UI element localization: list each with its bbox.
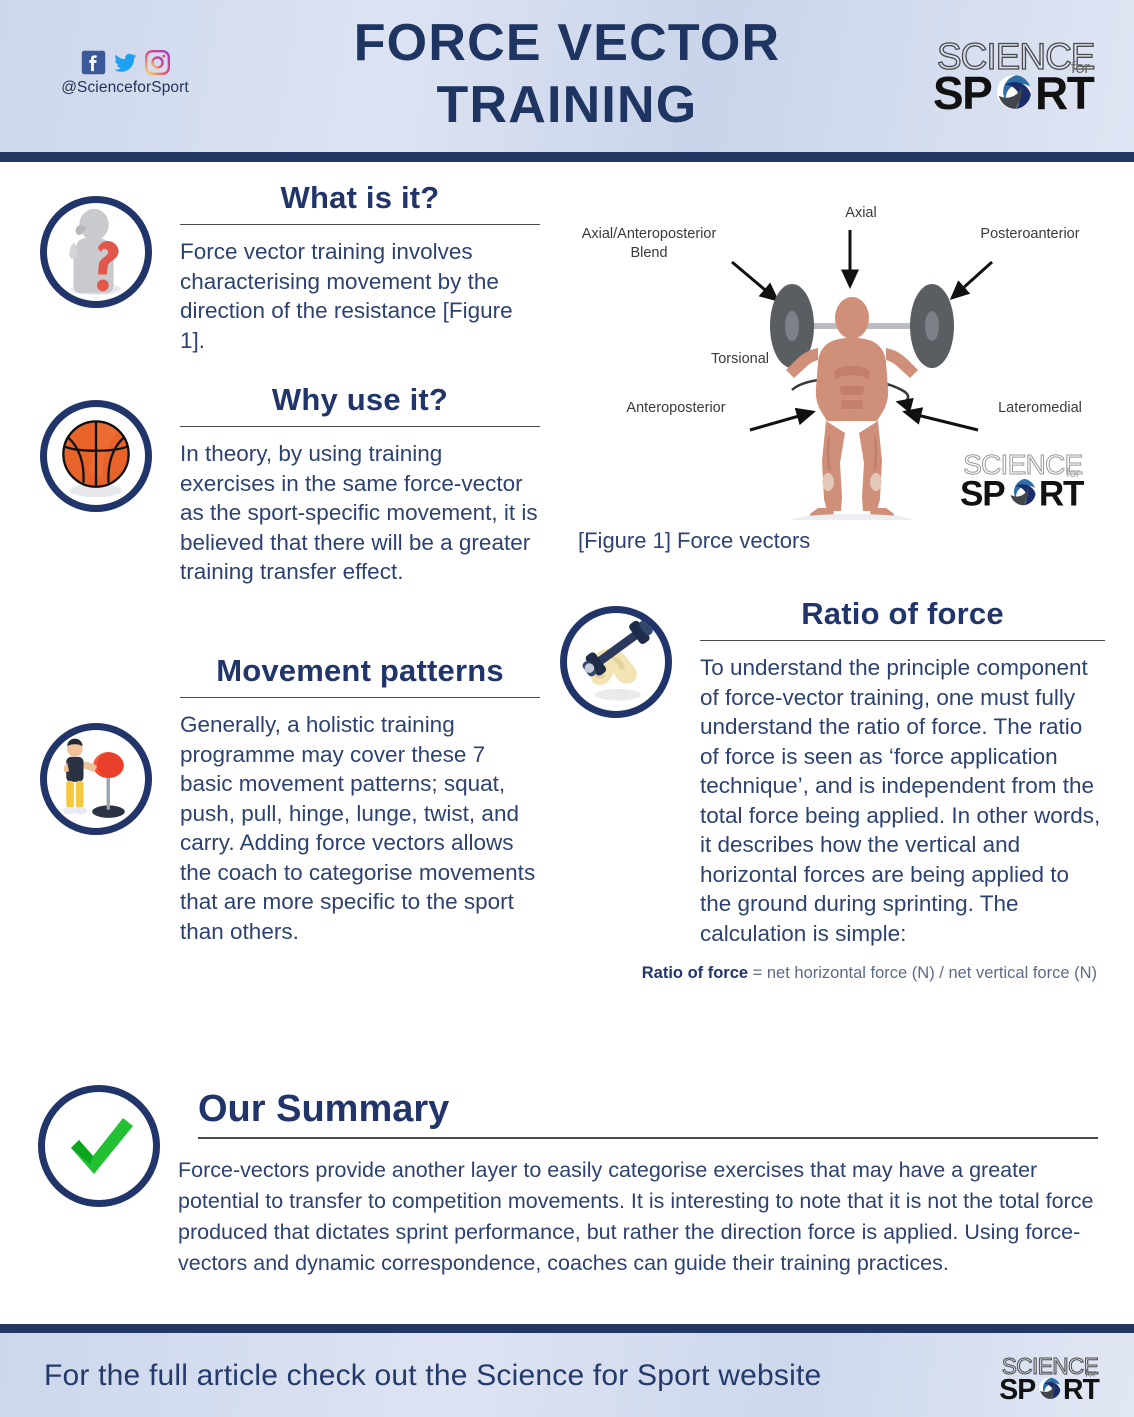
page-header: @ScienceforSport FORCE VECTOR TRAINING S…: [0, 0, 1134, 152]
basketball-icon: [40, 400, 152, 512]
figure-watermark-logo: SCIENCE for SP RT: [949, 446, 1099, 510]
bicep-dumbbell-icon: [560, 606, 672, 718]
section-body: To understand the principle component of…: [700, 653, 1105, 948]
summary-divider: [198, 1137, 1098, 1139]
section-title: What is it?: [180, 178, 540, 218]
boxer-punching-bag-icon: [40, 723, 152, 835]
section-title: Why use it?: [180, 380, 540, 420]
science-for-sport-logo: SCIENCE for SP RT: [931, 33, 1099, 115]
page-title: FORCE VECTOR TRAINING: [237, 12, 897, 136]
svg-text:RT: RT: [1039, 474, 1085, 510]
figure-1-canvas: Axial Axial/Anteroposterior Blend Poster…: [560, 190, 1105, 520]
formula-expression: = net horizontal force (N) / net vertica…: [748, 964, 1097, 982]
section-divider: [700, 640, 1105, 641]
left-column: What is it? Force vector training involv…: [40, 178, 540, 952]
social-block: @ScienceforSport: [40, 50, 210, 97]
page-footer: For the full article check out the Scien…: [0, 1333, 1134, 1417]
svg-text:SP: SP: [999, 1374, 1035, 1403]
header-divider: [0, 152, 1134, 162]
section-body: Force vector training involves character…: [180, 237, 540, 355]
thinking-person-question-mark-icon: [40, 196, 152, 308]
section-body: In theory, by using training exercises i…: [180, 439, 540, 587]
svg-text:SP: SP: [933, 67, 992, 115]
footer-divider: [0, 1324, 1134, 1333]
twitter-icon[interactable]: [113, 50, 138, 75]
section-body: Generally, a holistic training programme…: [180, 710, 540, 946]
svg-text:RT: RT: [1035, 67, 1095, 115]
section-title: Ratio of force: [700, 594, 1105, 634]
right-column: Axial Axial/Anteroposterior Blend Poster…: [560, 190, 1105, 983]
footer-science-for-sport-logo: SCIENCE for SP RT: [998, 1351, 1104, 1408]
section-heading-what-is-it: What is it?: [140, 178, 540, 225]
section-heading-movement-patterns: Movement patterns: [140, 651, 540, 698]
section-divider: [180, 426, 540, 427]
svg-text:SP: SP: [960, 474, 1005, 510]
summary-body: Force-vectors provide another layer to e…: [178, 1155, 1098, 1279]
social-handle: @ScienceforSport: [40, 79, 210, 97]
section-divider: [180, 224, 540, 225]
section-heading-why-use-it: Why use it?: [140, 380, 540, 427]
section-movement-patterns: Movement patterns Generally, a holistic …: [40, 651, 540, 946]
section-ratio-of-force: Ratio of force To understand the princip…: [560, 594, 1105, 948]
svg-text:RT: RT: [1063, 1374, 1101, 1403]
figure-1: Axial Axial/Anteroposterior Blend Poster…: [560, 190, 1105, 554]
summary-title: Our Summary: [198, 1085, 1098, 1133]
section-why-use-it: Why use it? In theory, by using training…: [40, 380, 540, 635]
section-divider: [180, 697, 540, 698]
section-what-is-it: What is it? Force vector training involv…: [40, 178, 540, 358]
instagram-icon[interactable]: [145, 50, 170, 75]
summary-heading: Our Summary: [158, 1085, 1098, 1139]
figure-1-caption: [Figure 1] Force vectors: [560, 528, 1105, 554]
section-our-summary: Our Summary Force-vectors provide anothe…: [38, 1085, 1098, 1279]
footer-text: For the full article check out the Scien…: [44, 1359, 821, 1393]
section-heading-ratio-of-force: Ratio of force: [660, 594, 1105, 641]
social-icons[interactable]: [40, 50, 210, 75]
green-check-icon: [38, 1085, 160, 1207]
facebook-icon[interactable]: [81, 50, 106, 75]
formula-label: Ratio of force: [642, 964, 748, 982]
section-title: Movement patterns: [180, 651, 540, 691]
ratio-of-force-formula: Ratio of force = net horizontal force (N…: [560, 964, 1105, 983]
